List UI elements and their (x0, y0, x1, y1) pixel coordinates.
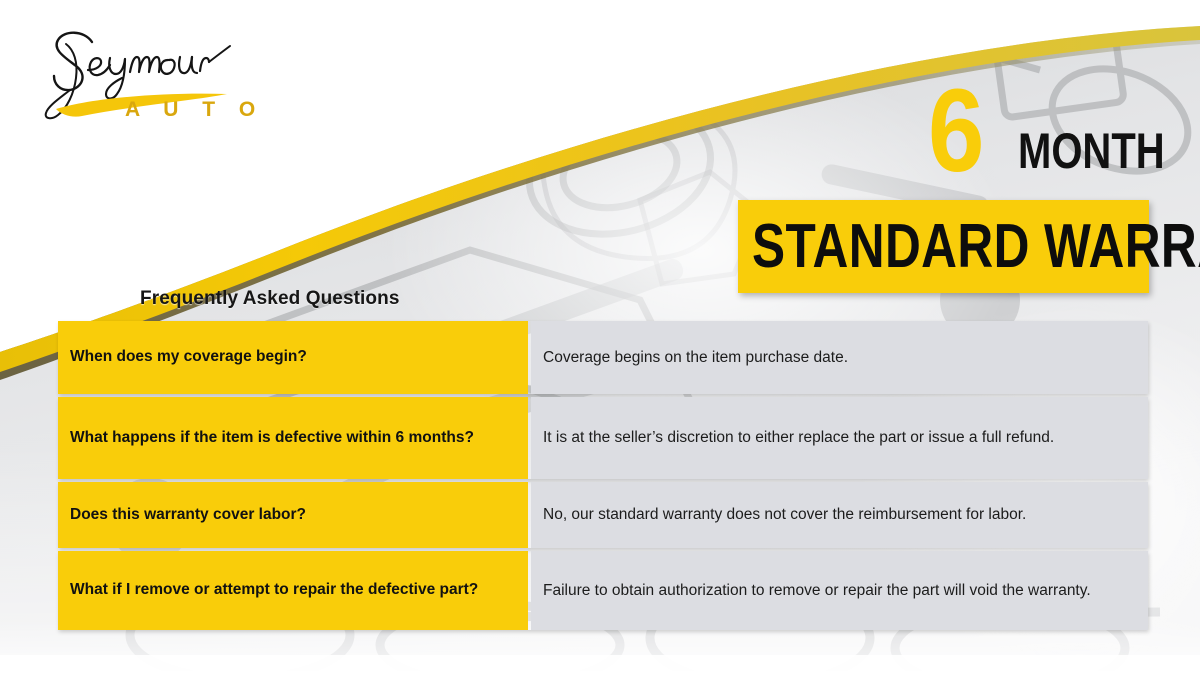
faq-question-cell: When does my coverage begin? (58, 321, 528, 394)
faq-answer-text: Coverage begins on the item purchase dat… (543, 347, 1136, 368)
table-row: What if I remove or attempt to repair th… (58, 551, 1148, 630)
standard-warranty-band: STANDARD WARRANTY (738, 200, 1149, 293)
faq-question-text: Does this warranty cover labor? (70, 505, 516, 525)
faq-question-cell: What happens if the item is defective wi… (58, 397, 528, 479)
warranty-banner: A U T O 6 MONTH STANDARD WARRANTY Freque… (0, 0, 1200, 675)
faq-table: When does my coverage begin? Coverage be… (58, 321, 1148, 630)
faq-answer-text: Failure to obtain authorization to remov… (543, 580, 1136, 601)
faq-answer-cell: It is at the seller’s discretion to eith… (531, 397, 1148, 479)
logo-auto-text: A U T O (125, 99, 264, 120)
faq-question-cell: Does this warranty cover labor? (58, 482, 528, 548)
table-row: Does this warranty cover labor? No, our … (58, 482, 1148, 548)
faq-answer-cell: Coverage begins on the item purchase dat… (531, 321, 1148, 394)
faq-question-text: What happens if the item is defective wi… (70, 428, 516, 448)
faq-answer-cell: Failure to obtain authorization to remov… (531, 551, 1148, 630)
seymour-auto-logo[interactable]: A U T O (22, 14, 272, 124)
standard-warranty-text: STANDARD WARRANTY (752, 216, 1200, 278)
table-row: What happens if the item is defective wi… (58, 397, 1148, 479)
faq-question-text: When does my coverage begin? (70, 347, 516, 367)
faq-heading: Frequently Asked Questions (140, 288, 400, 310)
duration-number: 6 (928, 72, 983, 190)
duration-unit: MONTH (1018, 126, 1165, 176)
faq-answer-text: No, our standard warranty does not cover… (543, 504, 1136, 525)
faq-question-cell: What if I remove or attempt to repair th… (58, 551, 528, 630)
faq-question-text: What if I remove or attempt to repair th… (70, 580, 516, 600)
table-row: When does my coverage begin? Coverage be… (58, 321, 1148, 394)
faq-answer-text: It is at the seller’s discretion to eith… (543, 427, 1136, 448)
faq-answer-cell: No, our standard warranty does not cover… (531, 482, 1148, 548)
